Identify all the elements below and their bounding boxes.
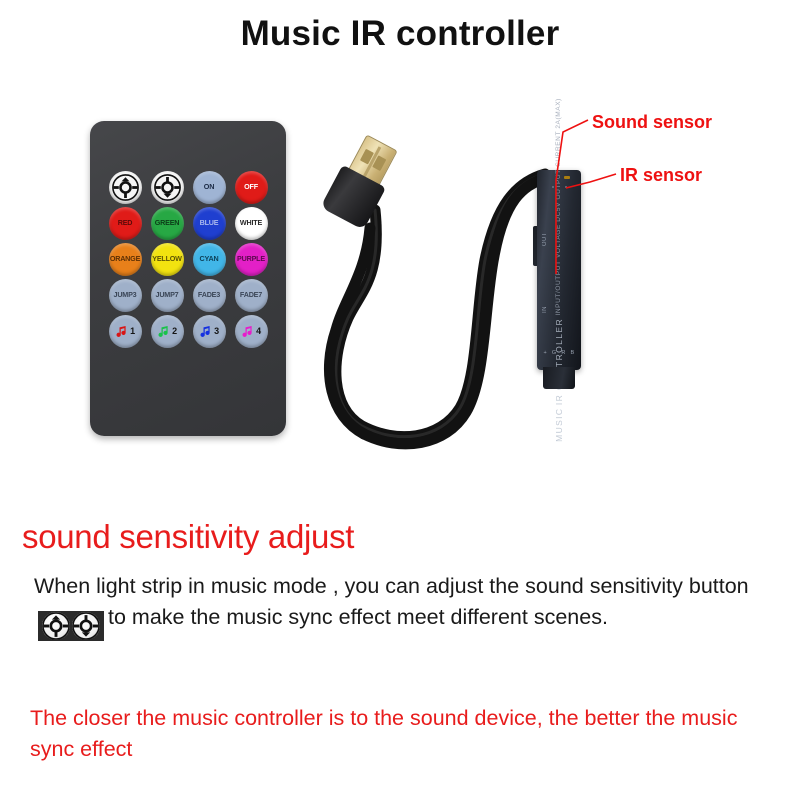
remote-button-purple[interactable]: PURPLE bbox=[235, 243, 268, 276]
remote-button-label: JUMP3 bbox=[114, 291, 137, 298]
remote-button-label: YELLOW bbox=[152, 255, 182, 262]
module-print: MUSIC IR CONTROLLER INPUT/OUTPUT VOLTAGE… bbox=[551, 98, 567, 442]
module-terminal-g: G bbox=[552, 350, 557, 356]
remote-button-orange[interactable]: ORANGE bbox=[109, 243, 142, 276]
module-terminal-labels: +GRB bbox=[537, 350, 581, 356]
ir-remote-control: ONOFFREDGREENBLUEWHITEORANGEYELLOWCYANPU… bbox=[90, 121, 286, 436]
remote-button-white[interactable]: WHITE bbox=[235, 207, 268, 240]
remote-button-on[interactable]: ON bbox=[193, 171, 226, 204]
sound-sensor-hole bbox=[564, 176, 570, 179]
remote-button-label: FADE3 bbox=[198, 291, 220, 298]
remote-button-label: RED bbox=[118, 219, 133, 226]
remote-button-label: ON bbox=[204, 183, 214, 190]
usb-slot bbox=[363, 146, 382, 177]
module-brand: MUSIC bbox=[554, 408, 564, 442]
sensitivity-up-icon bbox=[42, 612, 70, 640]
remote-button-blue[interactable]: BLUE bbox=[193, 207, 226, 240]
remote-button-music-4[interactable]: 4 bbox=[235, 315, 268, 348]
remote-button-jump3[interactable]: JUMP3 bbox=[109, 279, 142, 312]
usb-cable-assembly: MUSIC IR CONTROLLER INPUT/OUTPUT VOLTAGE… bbox=[300, 78, 630, 498]
product-photo-area: ONOFFREDGREENBLUEWHITEORANGEYELLOWCYANPU… bbox=[0, 78, 800, 498]
module-spec-voltage: INPUT/OUTPUT VOLTAGE DC5V bbox=[555, 202, 562, 316]
remote-button-label: BLUE bbox=[200, 219, 219, 226]
callout-ir-sensor: IR sensor bbox=[620, 165, 702, 186]
remote-button-label: JUMP7 bbox=[156, 291, 179, 298]
remote-button-green[interactable]: GREEN bbox=[151, 207, 184, 240]
module-output-connector bbox=[543, 367, 575, 389]
controller-module: MUSIC IR CONTROLLER INPUT/OUTPUT VOLTAGE… bbox=[537, 170, 581, 370]
callout-sound-sensor: Sound sensor bbox=[592, 112, 712, 133]
remote-button-label: OFF bbox=[244, 183, 258, 190]
section-heading: sound sensitivity adjust bbox=[22, 518, 354, 556]
instruction-text-part1: When light strip in music mode , you can… bbox=[34, 574, 749, 598]
module-title: IR CONTROLLER bbox=[554, 318, 564, 405]
remote-button-jump7[interactable]: JUMP7 bbox=[151, 279, 184, 312]
module-port-out: OUT bbox=[542, 232, 548, 246]
remote-button-music-2[interactable]: 2 bbox=[151, 315, 184, 348]
remote-button-yellow[interactable]: YELLOW bbox=[151, 243, 184, 276]
remote-button-fade3[interactable]: FADE3 bbox=[193, 279, 226, 312]
remote-button-label: ORANGE bbox=[110, 255, 140, 262]
remote-button-off[interactable]: OFF bbox=[235, 171, 268, 204]
instruction-text-part2: to make the music sync effect meet diffe… bbox=[108, 605, 608, 629]
module-terminal-b: B bbox=[571, 350, 575, 356]
remote-button-label: FADE7 bbox=[240, 291, 262, 298]
sensitivity-down-icon bbox=[72, 612, 100, 640]
remote-button-grid: ONOFFREDGREENBLUEWHITEORANGEYELLOWCYANPU… bbox=[104, 169, 272, 349]
remote-button-red[interactable]: RED bbox=[109, 207, 142, 240]
module-terminal-plus: + bbox=[543, 350, 547, 356]
remote-button-label: GREEN bbox=[155, 219, 180, 226]
proximity-note: The closer the music controller is to th… bbox=[30, 703, 770, 765]
instruction-paragraph: When light strip in music mode , you can… bbox=[34, 571, 770, 641]
remote-button-music-3[interactable]: 3 bbox=[193, 315, 226, 348]
module-port-in: IN bbox=[542, 306, 548, 313]
remote-button-label: PURPLE bbox=[237, 255, 265, 262]
inline-sensitivity-buttons bbox=[38, 611, 104, 641]
remote-button-label: WHITE bbox=[240, 219, 262, 226]
remote-button-label: CYAN bbox=[200, 255, 219, 262]
remote-button-fade7[interactable]: FADE7 bbox=[235, 279, 268, 312]
remote-button-cyan[interactable]: CYAN bbox=[193, 243, 226, 276]
sensitivity-down-icon[interactable] bbox=[151, 171, 184, 204]
module-spec-current: OUTPUT CURRENT 2A(MAX) bbox=[555, 98, 562, 199]
remote-button-music-1[interactable]: 1 bbox=[109, 315, 142, 348]
module-terminal-r: R bbox=[561, 350, 565, 356]
page-title: Music IR controller bbox=[0, 14, 800, 54]
sensitivity-up-icon[interactable] bbox=[109, 171, 142, 204]
